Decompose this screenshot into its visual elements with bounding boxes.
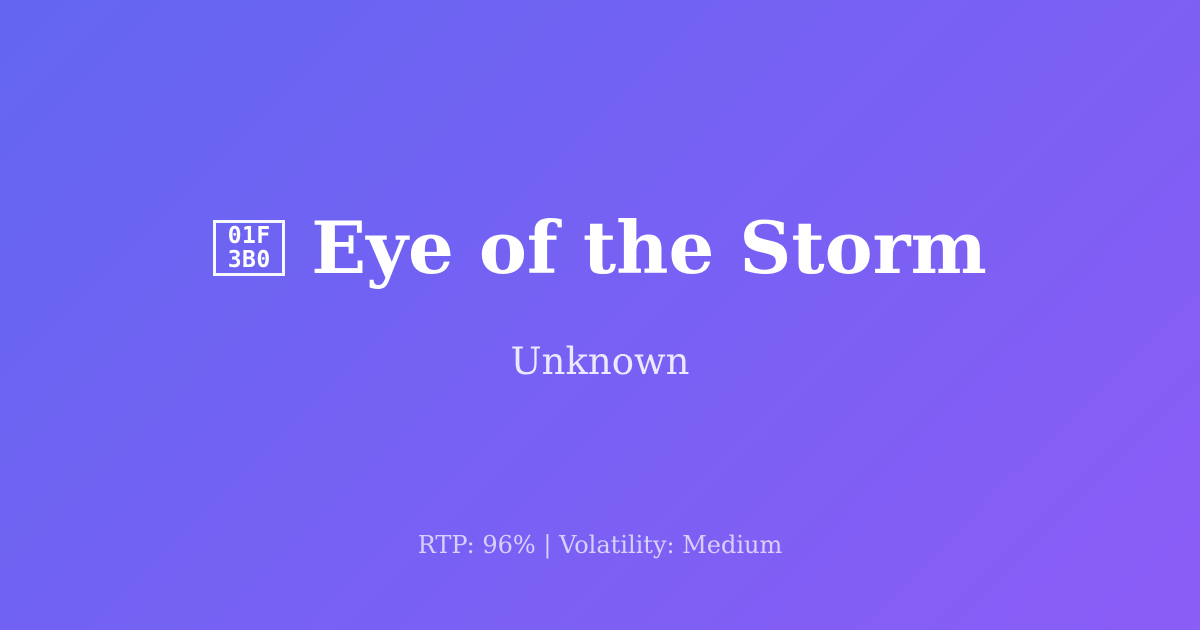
provider-subtitle: Unknown [510,342,689,383]
hero-block: 01F 3B0 Eye of the Storm Unknown [0,210,1200,383]
tofu-codepoint-top: 01F [228,224,271,248]
title-row: 01F 3B0 Eye of the Storm [0,210,1200,286]
page-title: Eye of the Storm [311,210,987,286]
game-stats-meta: RTP: 96% | Volatility: Medium [0,532,1200,558]
tofu-codepoint-bottom: 3B0 [228,248,271,272]
game-og-card: 01F 3B0 Eye of the Storm Unknown RTP: 96… [0,0,1200,630]
slot-machine-emoji-icon: 01F 3B0 [213,220,285,276]
